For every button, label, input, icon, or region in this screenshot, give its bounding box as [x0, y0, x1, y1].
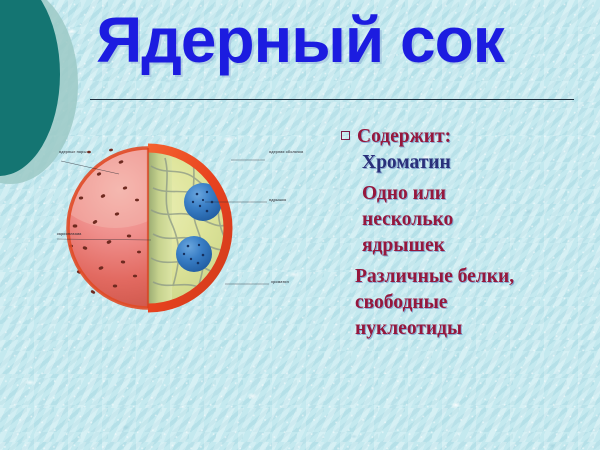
content-list: Содержит: Хроматин Одно или несколько яд… — [341, 124, 597, 342]
diagram-label-karyoplasm: кариоплазма — [57, 232, 81, 236]
list-item-label: Содержит: — [357, 124, 451, 150]
diagram-label-nuclear-envelope: ядерная оболочка — [269, 150, 303, 154]
nucleus-diagram-svg — [55, 136, 340, 321]
list-item: ядрышек — [341, 233, 597, 259]
title-divider — [90, 99, 574, 100]
list-item: несколько — [341, 207, 597, 233]
diagram-label-nucleolus: ядрышко — [269, 198, 286, 202]
list-item: нуклеотиды — [341, 316, 597, 342]
nucleolus-lower — [176, 236, 212, 272]
diagram-label-chromatin: хроматин — [271, 280, 289, 284]
list-item: свободные — [341, 290, 597, 316]
nucleus-diagram: ядерные поры кариоплазма ядерная оболочк… — [55, 136, 340, 321]
diagram-label-nuclear-pores: ядерные поры — [59, 150, 87, 154]
list-item: Различные белки, — [341, 264, 597, 290]
list-item: Одно или — [341, 181, 597, 207]
list-item: Содержит: — [341, 124, 597, 150]
page-title: Ядерный сок — [0, 8, 600, 72]
slide-canvas: Ядерный сок — [0, 0, 600, 450]
list-item: Хроматин — [341, 150, 597, 176]
square-bullet-icon — [341, 131, 350, 140]
